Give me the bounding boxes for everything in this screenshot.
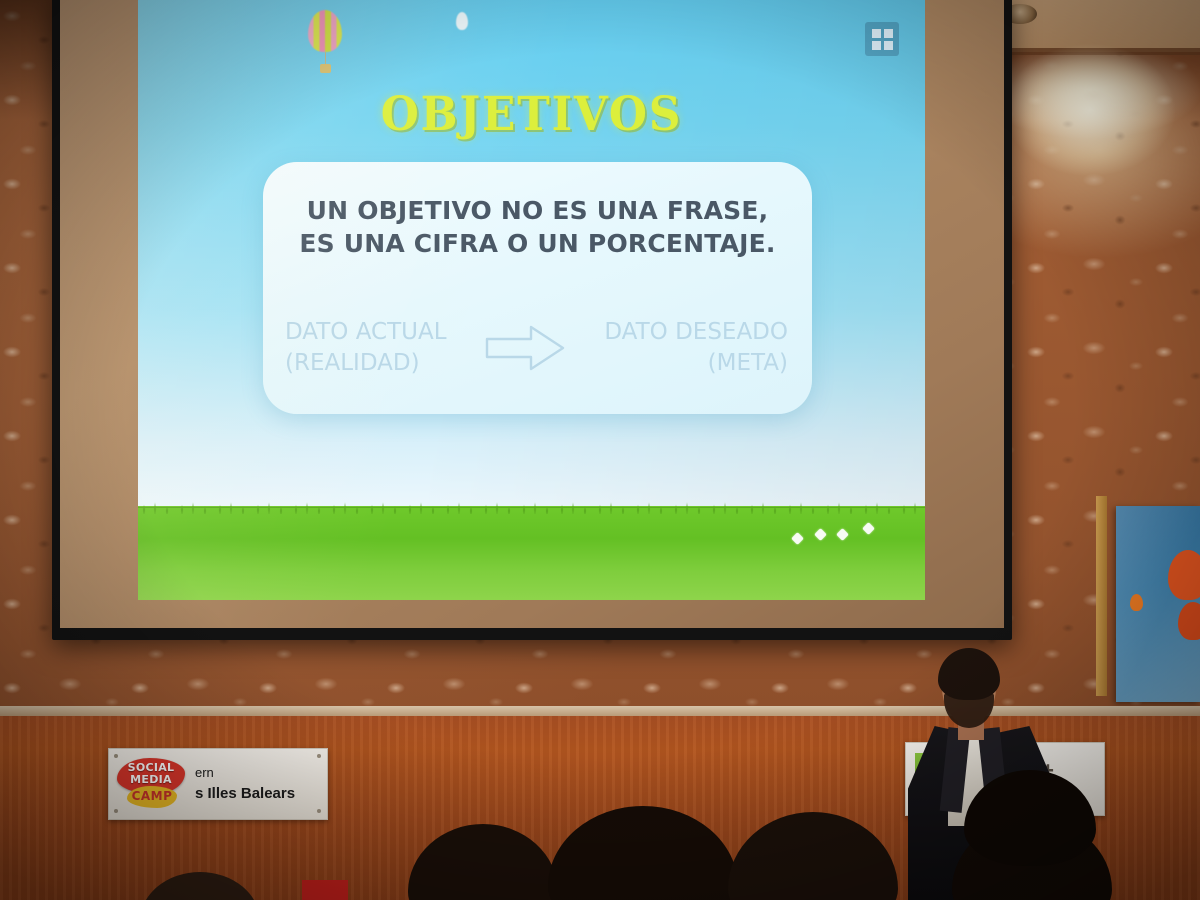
small-balloon-icon (456, 12, 468, 30)
dato-deseado-label: DATO DESEADO (604, 319, 788, 345)
balloon-envelope (308, 10, 342, 52)
arrow-container (477, 322, 573, 374)
fullscreen-quadrant (872, 41, 881, 50)
fullscreen-glyph (872, 29, 893, 50)
slide-grass (138, 506, 925, 600)
projected-slide: OBJETIVOS UN OBJETIVO NO ES UNA FRASE, E… (138, 0, 925, 600)
fullscreen-quadrant (884, 41, 893, 50)
card-main-text: UN OBJETIVO NO ES UNA FRASE, ES UNA CIFR… (293, 195, 782, 260)
slide-card: UN OBJETIVO NO ES UNA FRASE, ES UNA CIFR… (263, 162, 812, 414)
balloon-ropes (325, 52, 326, 64)
social-media-camp-banner: SOCIAL MEDIA CAMP ern s Illes Balears (108, 748, 328, 820)
card-left-column: DATO ACTUAL (REALIDAD) (279, 317, 447, 379)
banner-text-line-2: s Illes Balears (195, 783, 295, 805)
logo-line-2: MEDIA (117, 773, 185, 786)
fullscreen-quadrant (872, 29, 881, 38)
fullscreen-expand-icon[interactable] (865, 22, 899, 56)
presenter-hair (938, 648, 1000, 700)
pin-icon (317, 754, 321, 758)
hot-air-balloons-poster (1116, 506, 1200, 702)
dato-actual-label: DATO ACTUAL (285, 319, 447, 345)
poster-balloon-icon (1178, 602, 1200, 640)
social-media-camp-logo: SOCIAL MEDIA CAMP (115, 756, 189, 812)
card-line-1: UN OBJETIVO NO ES UNA FRASE, (307, 196, 769, 225)
meta-label: (META) (604, 348, 788, 379)
pin-icon (317, 809, 321, 813)
card-comparison-row: DATO ACTUAL (REALIDAD) DATO DESEADO (MET… (279, 300, 796, 396)
card-right-column: DATO DESEADO (META) (604, 317, 796, 379)
banner-text-block: ern s Illes Balears (195, 764, 295, 805)
photo-scene: OBJETIVOS UN OBJETIVO NO ES UNA FRASE, E… (0, 0, 1200, 900)
right-arrow-icon (483, 322, 567, 374)
balloon-basket (320, 64, 331, 73)
poster-balloon-icon (1130, 594, 1143, 611)
red-object (302, 880, 348, 900)
card-line-2: ES UNA CIFRA O UN PORCENTAJE. (293, 228, 782, 261)
logo-line-3: CAMP (127, 789, 177, 803)
realidad-label: (REALIDAD) (285, 348, 447, 379)
banner-text-line-1: ern (195, 764, 295, 783)
grass-blades (138, 498, 925, 514)
fullscreen-quadrant (884, 29, 893, 38)
slide-title: OBJETIVOS (166, 87, 898, 142)
poster-pole (1096, 496, 1107, 696)
hot-air-balloon-icon (308, 10, 342, 73)
